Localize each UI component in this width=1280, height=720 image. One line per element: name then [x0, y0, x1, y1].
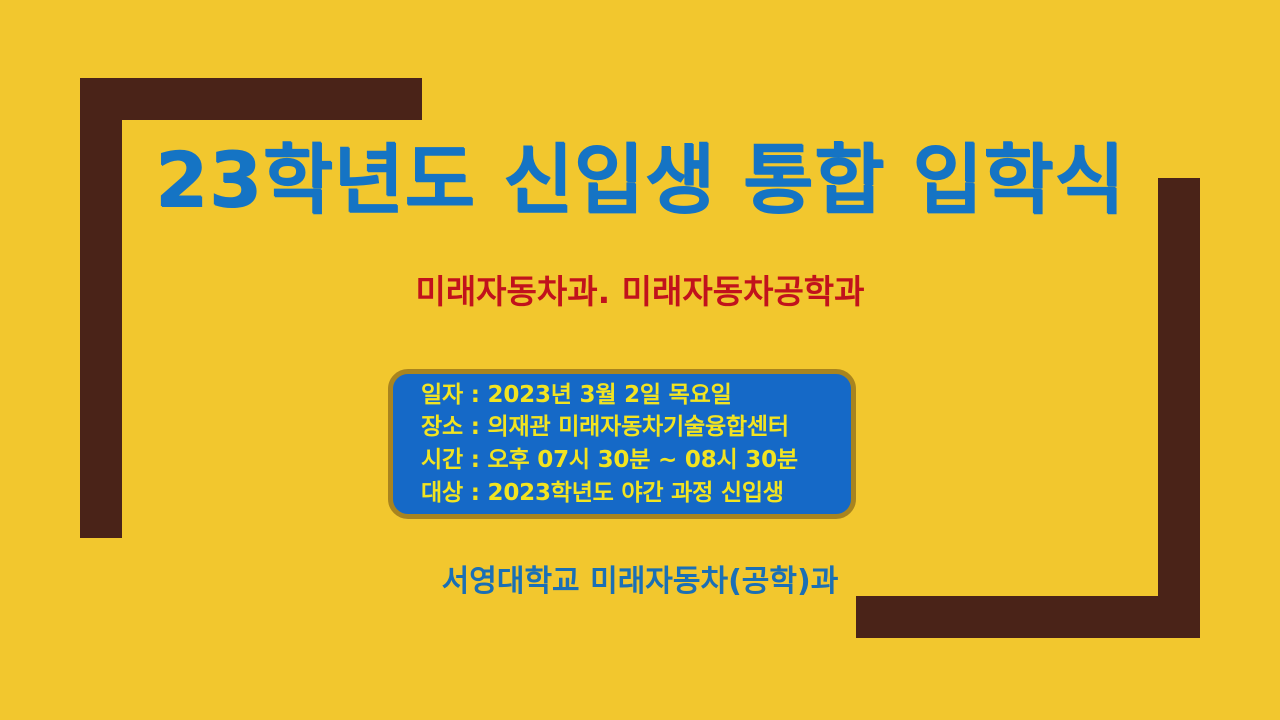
page-title: 23학년도 신입생 통합 입학식	[0, 139, 1280, 221]
poster-canvas: 23학년도 신입생 통합 입학식 미래자동차과. 미래자동차공학과 일자 : 2…	[0, 0, 1280, 720]
event-detail-audience: 대상 : 2023학년도 야간 과정 신입생	[421, 477, 851, 510]
poster-content: 23학년도 신입생 통합 입학식 미래자동차과. 미래자동차공학과 일자 : 2…	[0, 0, 1280, 720]
organization-footer: 서영대학교 미래자동차(공학)과	[0, 556, 1280, 600]
event-detail-date: 일자 : 2023년 3월 2일 목요일	[421, 379, 851, 412]
event-details-box: 일자 : 2023년 3월 2일 목요일 장소 : 의재관 미래자동차기술융합센…	[388, 369, 856, 519]
event-detail-location: 장소 : 의재관 미래자동차기술융합센터	[421, 411, 851, 444]
department-subtitle: 미래자동차과. 미래자동차공학과	[0, 265, 1280, 313]
event-detail-time: 시간 : 오후 07시 30분 ~ 08시 30분	[421, 444, 851, 477]
